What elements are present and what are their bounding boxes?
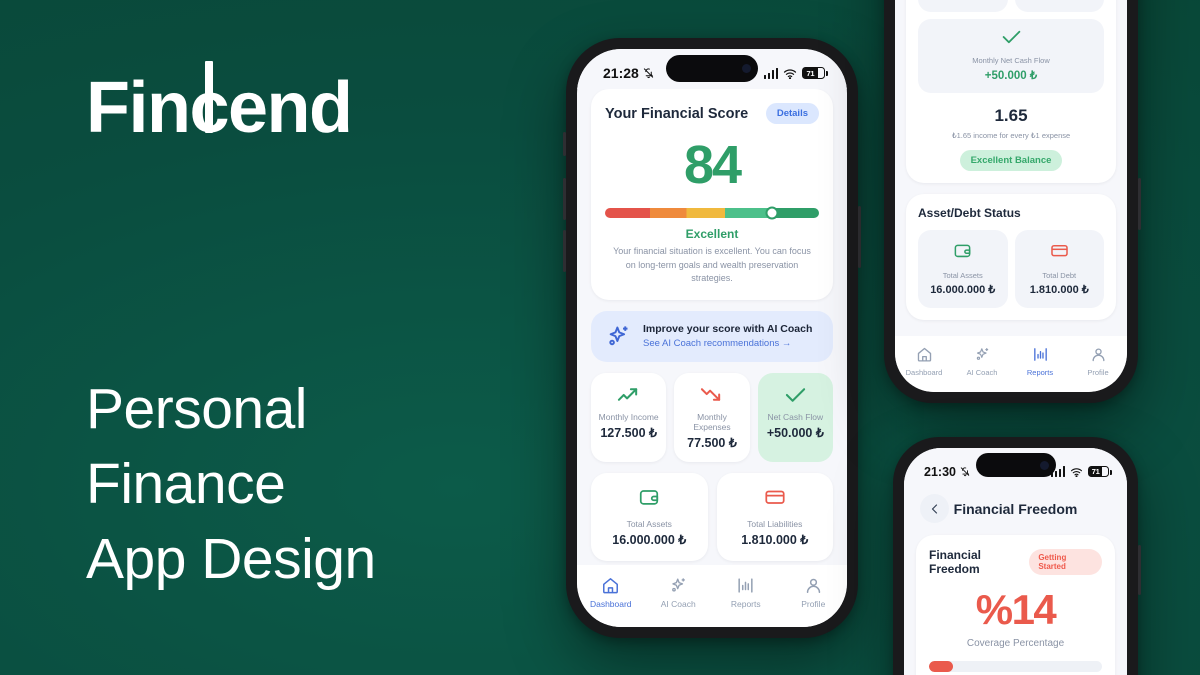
trend-up-icon xyxy=(595,384,662,406)
tab-ai-coach[interactable]: AI Coach xyxy=(953,344,1011,377)
income-expense-ratio: 1.65 xyxy=(918,106,1104,126)
score-card-title: Your Financial Score xyxy=(605,106,748,122)
metric-card-net-cash-flow[interactable]: Net Cash Flow +50.000 ₺ xyxy=(758,373,833,462)
status-badge: Getting Started xyxy=(1029,549,1102,575)
mute-switch[interactable] xyxy=(563,132,566,156)
balance-label: Total Liabilities xyxy=(721,519,830,529)
wifi-icon xyxy=(1070,467,1083,477)
tab-label: Profile xyxy=(1069,368,1127,377)
tab-dashboard[interactable]: Dashboard xyxy=(895,344,953,377)
battery-icon: 71 xyxy=(1088,466,1109,477)
trend-down-icon xyxy=(678,384,745,406)
headline-line-1: Personal xyxy=(86,372,376,447)
front-camera-icon xyxy=(742,64,751,73)
metric-label: Monthly Income xyxy=(595,412,662,422)
metric-label: Net Cash Flow xyxy=(762,412,829,422)
screen-financial-freedom: 21:30 71 Financial Freedom xyxy=(904,448,1127,675)
home-icon xyxy=(577,575,645,596)
ai-coach-title: Improve your score with AI Coach xyxy=(643,323,812,335)
status-time-group: 21:28 xyxy=(603,65,654,81)
power-button[interactable] xyxy=(1138,178,1141,230)
tab-label: AI Coach xyxy=(953,368,1011,377)
financial-freedom-detail-card: Financial Freedom Getting Started %14 Co… xyxy=(916,535,1115,675)
score-card-header: Your Financial Score Details xyxy=(605,103,819,124)
tab-label: Reports xyxy=(712,599,780,609)
logo-text-part2: end xyxy=(228,72,352,144)
ai-sparkle-icon xyxy=(953,344,1011,365)
score-indicator-knob[interactable] xyxy=(765,207,778,220)
metric-card-monthly-expenses[interactable]: Monthly Expenses 77.500 ₺ xyxy=(674,373,749,462)
metric-value: +50.000 ₺ xyxy=(762,425,829,440)
status-indicators: 71 xyxy=(1051,466,1110,477)
logo-text-part1: Fin xyxy=(86,72,189,144)
bottom-tab-bar: Dashboard AI Coach Reports xyxy=(895,336,1127,392)
person-icon xyxy=(780,575,848,596)
sub-card-total-income[interactable]: Total Income 127.500 ₺ xyxy=(918,0,1008,12)
status-indicators: 71 xyxy=(764,67,826,79)
power-button[interactable] xyxy=(858,206,861,268)
freedom-detail-title: Financial Freedom xyxy=(929,548,1029,576)
wallet-icon xyxy=(922,241,1004,265)
balance-label: Total Assets xyxy=(595,519,704,529)
person-icon xyxy=(1069,344,1127,365)
tab-label: Dashboard xyxy=(895,368,953,377)
volume-up-button[interactable] xyxy=(563,178,566,220)
status-bar: 21:30 71 xyxy=(904,448,1127,488)
metric-value: 77.500 ₺ xyxy=(678,435,745,450)
tab-profile[interactable]: Profile xyxy=(780,575,848,609)
cellular-icon xyxy=(764,68,779,79)
balance-row: Total Assets 16.000.000 ₺ Total Liabilit… xyxy=(591,473,833,561)
metric-value: 127.500 ₺ xyxy=(595,425,662,440)
tab-label: Reports xyxy=(1011,368,1069,377)
ai-coach-text: Improve your score with AI Coach See AI … xyxy=(643,323,812,349)
asset-items-row: Total Assets 16.000.000 ₺ Total Debt 1.8… xyxy=(918,230,1104,308)
sub-card-value: 1.810.000 ₺ xyxy=(1019,283,1101,296)
app-logo: Fincend xyxy=(86,72,516,144)
ai-coach-link[interactable]: See AI Coach recommendations → xyxy=(643,338,812,349)
check-icon xyxy=(922,29,1100,50)
tab-reports[interactable]: Reports xyxy=(1011,344,1069,377)
balance-value: 16.000.000 ₺ xyxy=(595,532,704,547)
dynamic-island xyxy=(976,453,1056,477)
page-title: Personal Finance App Design xyxy=(86,372,376,598)
netflow-label: Monthly Net Cash Flow xyxy=(922,56,1100,65)
tab-profile[interactable]: Profile xyxy=(1069,344,1127,377)
coverage-progress-fill xyxy=(929,661,953,672)
score-value: 84 xyxy=(605,134,819,196)
tab-ai-coach[interactable]: AI Coach xyxy=(645,575,713,609)
sub-card-total-debt[interactable]: Total Debt 1.810.000 ₺ xyxy=(1015,230,1105,308)
wifi-icon xyxy=(783,68,797,79)
monthly-metrics-row: Monthly Income 127.500 ₺ Monthly Expense… xyxy=(591,373,833,462)
volume-down-button[interactable] xyxy=(563,230,566,272)
headline-line-3: App Design xyxy=(86,522,376,597)
sub-card-net-cash-flow[interactable]: Monthly Net Cash Flow +50.000 ₺ xyxy=(918,19,1104,93)
sub-card-value: 16.000.000 ₺ xyxy=(922,283,1004,296)
ai-sparkle-icon xyxy=(605,323,632,350)
status-time-group: 21:30 xyxy=(924,465,970,479)
tab-label: AI Coach xyxy=(645,599,713,609)
brand-block: Fincend xyxy=(86,72,516,144)
tab-label: Profile xyxy=(780,599,848,609)
screen-reports: Income/Expense Balance Total Income 127.… xyxy=(895,0,1127,392)
balance-value: 1.810.000 ₺ xyxy=(721,532,830,547)
score-description: Your financial situation is excellent. Y… xyxy=(605,245,819,286)
dynamic-island xyxy=(666,55,758,82)
score-gauge xyxy=(605,208,819,218)
screen-dashboard: 21:28 71 Your Financial Score xyxy=(577,49,847,627)
battery-level: 71 xyxy=(1089,467,1102,476)
chart-bar-icon xyxy=(1011,344,1069,365)
power-button[interactable] xyxy=(1138,545,1141,595)
sub-card-label: Total Debt xyxy=(1019,271,1101,280)
coverage-percentage-label: Coverage Percentage xyxy=(929,638,1102,649)
financial-score-card: Your Financial Score Details 84 Excellen… xyxy=(591,89,833,300)
cent-stroke-icon xyxy=(205,61,213,133)
tab-label: Dashboard xyxy=(577,599,645,609)
credit-card-icon xyxy=(721,486,830,513)
nav-header: Financial Freedom xyxy=(904,488,1127,535)
bell-off-icon xyxy=(960,467,970,477)
battery-icon: 71 xyxy=(802,67,825,79)
logo-cent-glyph: c xyxy=(189,72,228,144)
back-button[interactable] xyxy=(920,494,949,523)
freedom-detail-header: Financial Freedom Getting Started xyxy=(929,548,1102,576)
tab-reports[interactable]: Reports xyxy=(712,575,780,609)
wallet-icon xyxy=(595,486,704,513)
credit-card-icon xyxy=(1019,241,1101,265)
sub-card-total-assets[interactable]: Total Assets 16.000.000 ₺ xyxy=(918,230,1008,308)
income-expense-balance-card: Income/Expense Balance Total Income 127.… xyxy=(906,0,1116,183)
freedom-content: Financial Freedom Getting Started %14 Co… xyxy=(904,535,1127,675)
sub-card-label: Total Assets xyxy=(922,271,1004,280)
metric-label: Monthly Expenses xyxy=(678,412,745,432)
status-time: 21:28 xyxy=(603,65,639,81)
netflow-value: +50.000 ₺ xyxy=(922,68,1100,82)
sub-card-total-expenses[interactable]: Total Expenses 77.500 ₺ xyxy=(1015,0,1105,12)
asset-debt-status-card: Asset/Debt Status Total Assets 16.000.00… xyxy=(906,194,1116,320)
front-camera-icon xyxy=(1040,461,1049,470)
bell-off-icon xyxy=(643,68,654,79)
asset-card-title: Asset/Debt Status xyxy=(918,206,1104,220)
status-bar: 21:28 71 xyxy=(577,49,847,89)
dashboard-content: Your Financial Score Details 84 Excellen… xyxy=(577,89,847,627)
status-time: 21:30 xyxy=(924,465,956,479)
headline-line-2: Finance xyxy=(86,447,376,522)
battery-level: 71 xyxy=(803,68,818,78)
phone-mockup-dashboard: 21:28 71 Your Financial Score xyxy=(566,38,858,638)
score-rating: Excellent xyxy=(605,227,819,241)
balance-badge-wrap: Excellent Balance xyxy=(918,150,1104,171)
balance-status-badge: Excellent Balance xyxy=(960,150,1063,171)
home-icon xyxy=(895,344,953,365)
tab-dashboard[interactable]: Dashboard xyxy=(577,575,645,609)
coverage-percentage-value: %14 xyxy=(929,586,1102,634)
balance-card-total-assets[interactable]: Total Assets 16.000.000 ₺ xyxy=(591,473,708,561)
chevron-left-icon xyxy=(929,503,941,515)
bottom-tab-bar: Dashboard AI Coach Reports xyxy=(577,565,847,627)
ai-sparkle-icon xyxy=(645,575,713,596)
balance-items-row: Total Income 127.500 ₺ Total Expenses 77… xyxy=(918,0,1104,12)
metric-card-monthly-income[interactable]: Monthly Income 127.500 ₺ xyxy=(591,373,666,462)
check-icon xyxy=(762,384,829,406)
ratio-description: ₺1.65 income for every ₺1 expense xyxy=(918,131,1104,140)
phone-mockup-financial-freedom: 21:30 71 Financial Freedom xyxy=(893,437,1138,675)
score-details-button[interactable]: Details xyxy=(766,103,819,124)
phone-mockup-reports: Income/Expense Balance Total Income 127.… xyxy=(884,0,1138,403)
chart-bar-icon xyxy=(712,575,780,596)
coverage-progress-bar xyxy=(929,661,1102,672)
balance-card-total-liabilities[interactable]: Total Liabilities 1.810.000 ₺ xyxy=(717,473,834,561)
reports-content: Income/Expense Balance Total Income 127.… xyxy=(895,0,1127,320)
ai-coach-banner[interactable]: Improve your score with AI Coach See AI … xyxy=(591,311,833,362)
